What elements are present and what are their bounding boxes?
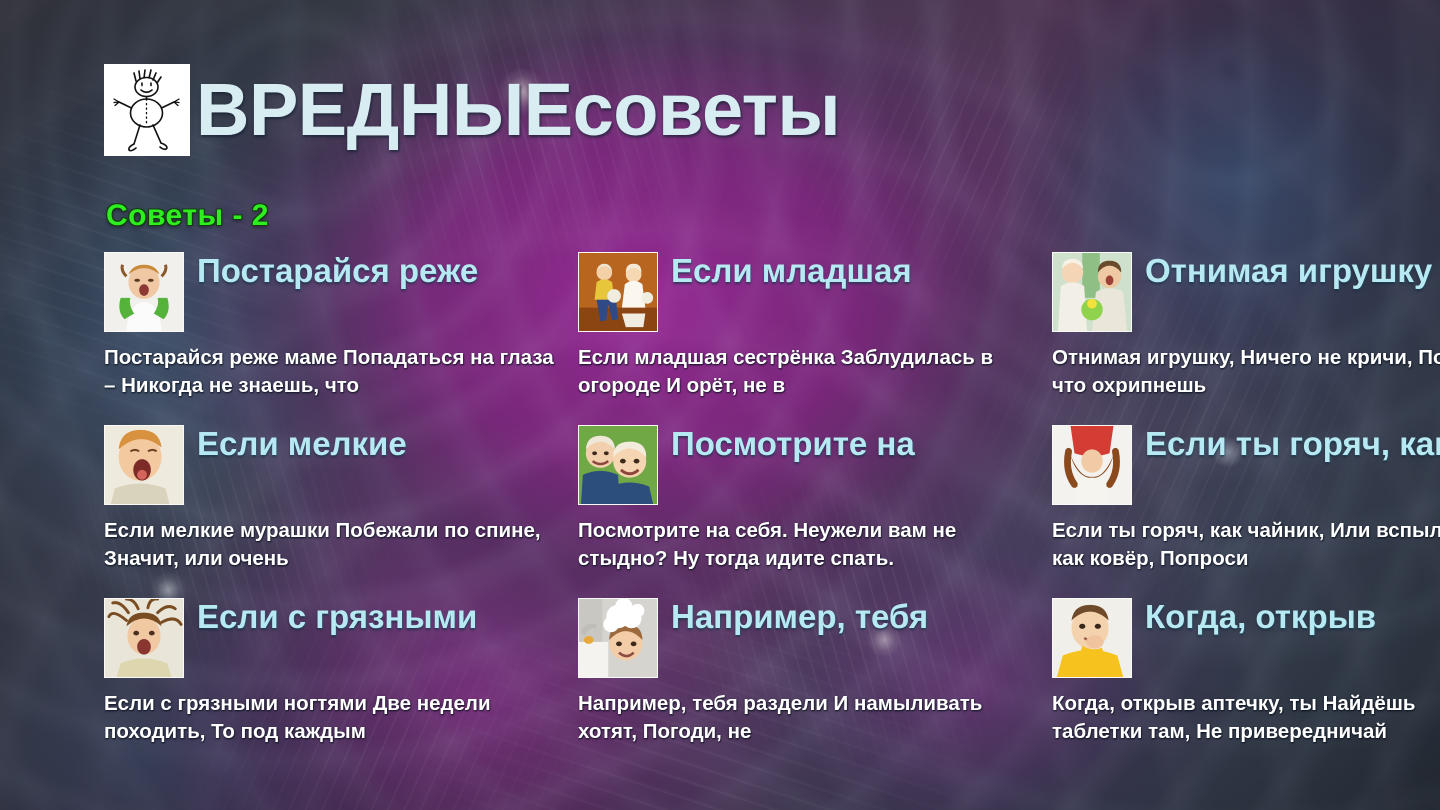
child-pulling-hair-photo <box>104 252 184 332</box>
boy-and-girl-running-photo <box>578 252 658 332</box>
advice-card-title: Когда, открыв <box>1145 598 1376 634</box>
advice-card[interactable]: Если мелкие Если мелкие мурашки Побежали… <box>104 425 556 598</box>
advice-card[interactable]: Если ты горяч, как Если ты горяч, как ча… <box>1052 425 1440 598</box>
advice-card[interactable]: Если младшая Если младшая сестрёнка Забл… <box>578 252 1030 425</box>
advice-card-head: Когда, открыв <box>1052 598 1440 680</box>
advice-card-title: Если младшая <box>671 252 912 288</box>
advice-card-title: Если ты горяч, как <box>1145 425 1440 461</box>
advice-card-body: Если ты горяч, как чайник, Или вспыльчив… <box>1052 517 1440 574</box>
page-title-bold: ВРЕДНЫЕ <box>196 68 573 151</box>
advice-grid: Постарайся реже Постарайся реже маме Поп… <box>104 252 1440 771</box>
child-messy-hair-photo <box>104 598 184 678</box>
two-smiling-boys-photo <box>578 425 658 505</box>
advice-card-body: Если младшая сестрёнка Заблудилась в ого… <box>578 344 1030 401</box>
advice-card[interactable]: Например, тебя Например, тебя раздели И … <box>578 598 1030 771</box>
advice-card[interactable]: Посмотрите на Посмотрите на себя. Неужел… <box>578 425 1030 598</box>
advice-card-body: Когда, открыв аптечку, ты Найдёшь таблет… <box>1052 690 1440 747</box>
advice-card-title: Постарайся реже <box>197 252 478 288</box>
advice-card-body: Например, тебя раздели И намыливать хотя… <box>578 690 1030 747</box>
advice-card-head: Постарайся реже <box>104 252 556 334</box>
advice-card-head: Если младшая <box>578 252 1030 334</box>
advice-card-body: Если мелкие мурашки Побежали по спине, З… <box>104 517 556 574</box>
screaming-child-photo <box>104 425 184 505</box>
advice-card[interactable]: Отнимая игрушку Отнимая игрушку, Ничего … <box>1052 252 1440 425</box>
advice-card[interactable]: Постарайся реже Постарайся реже маме Поп… <box>104 252 556 425</box>
advice-card-head: Если с грязными <box>104 598 556 680</box>
two-toddlers-with-toy-photo <box>1052 252 1132 332</box>
section-subtitle: Советы - 2 <box>106 199 269 233</box>
advice-card-body: Если с грязными ногтями Две недели поход… <box>104 690 556 747</box>
advice-card-head: Если мелкие <box>104 425 556 507</box>
advice-card-head: Отнимая игрушку <box>1052 252 1440 334</box>
advice-card-head: Например, тебя <box>578 598 1030 680</box>
girl-upside-down-photo <box>1052 425 1132 505</box>
advice-card-body: Посмотрите на себя. Неужели вам не стыдн… <box>578 517 1030 574</box>
advice-card-body: Постарайся реже маме Попадаться на глаза… <box>104 344 556 401</box>
advice-card-title: Отнимая игрушку <box>1145 252 1432 288</box>
advice-card-title: Если мелкие <box>197 425 407 461</box>
stick-figure-child-icon <box>104 64 190 156</box>
advice-card-head: Если ты горяч, как <box>1052 425 1440 507</box>
presentation-slide: ВРЕДНЫЕсоветы Советы - 2 <box>0 0 1440 810</box>
slide-header: ВРЕДНЫЕсоветы <box>104 62 840 158</box>
advice-card-body: Отнимая игрушку, Ничего не кричи, Потому… <box>1052 344 1440 401</box>
child-in-bath-foam-photo <box>578 598 658 678</box>
advice-card[interactable]: Когда, открыв Когда, открыв аптечку, ты … <box>1052 598 1440 771</box>
boy-in-yellow-shirt-photo <box>1052 598 1132 678</box>
advice-card-title: Например, тебя <box>671 598 928 634</box>
advice-card-title: Посмотрите на <box>671 425 915 461</box>
advice-card[interactable]: Если с грязными Если с грязными ногтями … <box>104 598 556 771</box>
page-title-light: советы <box>573 68 841 151</box>
advice-card-head: Посмотрите на <box>578 425 1030 507</box>
advice-card-title: Если с грязными <box>197 598 477 634</box>
page-title: ВРЕДНЫЕсоветы <box>196 75 840 145</box>
